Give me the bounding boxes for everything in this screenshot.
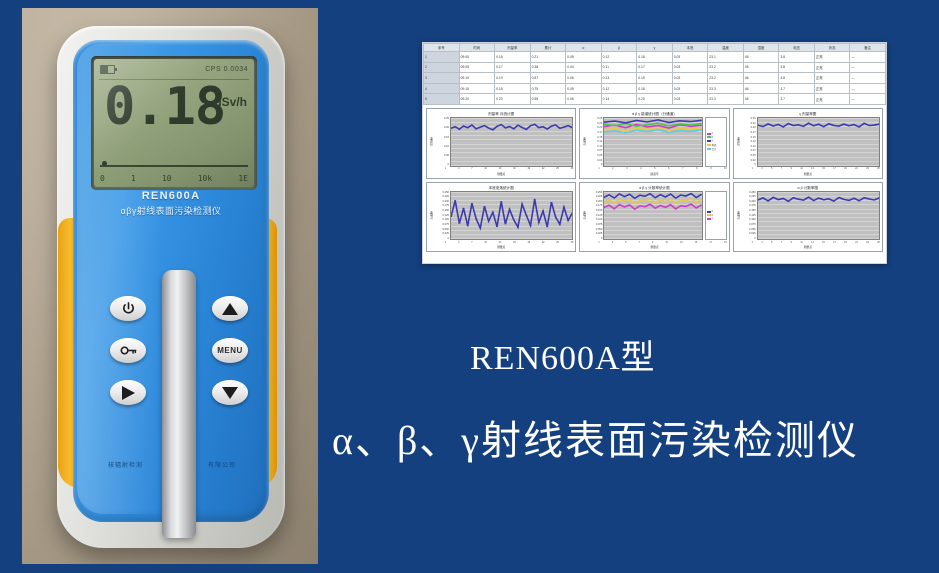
chart-y-tick: 0.075 bbox=[587, 223, 602, 226]
chart-x-tick: 15 bbox=[822, 242, 825, 244]
chart-data-point bbox=[675, 208, 677, 209]
chart-data-point bbox=[832, 125, 834, 126]
device-bottom-right-text: 有限公司 bbox=[208, 460, 236, 469]
chart-y-axis-label: 计数率 bbox=[582, 117, 587, 167]
chart-data-point bbox=[625, 132, 627, 133]
chart-svg bbox=[758, 192, 879, 240]
device-model-block: REN600A αβγ射线表面污染检测仪 bbox=[73, 190, 269, 217]
legend-label: γ bbox=[712, 217, 713, 220]
lcd-reading-value: 0.18 bbox=[104, 81, 225, 133]
table-cell: 5 bbox=[424, 94, 460, 105]
chart-x-tick: 23 bbox=[866, 242, 869, 244]
chart-x-tick: 9 bbox=[710, 168, 711, 170]
chart-x-axis-label: 通道号 bbox=[582, 172, 726, 177]
chart-x-tick: 3 bbox=[626, 168, 627, 170]
legend-swatch bbox=[707, 148, 711, 150]
table-column-header: α bbox=[566, 44, 602, 52]
chart-y-axis-label: 剂量率 bbox=[736, 117, 741, 167]
chart-svg bbox=[604, 118, 701, 166]
chart-data-point bbox=[508, 126, 510, 127]
chart-y-tick: 0.050 bbox=[434, 228, 449, 231]
chart-data-point bbox=[614, 130, 616, 131]
device-model-description: αβγ射线表面污染检测仪 bbox=[73, 204, 269, 217]
chart-data-point bbox=[500, 124, 502, 125]
chart-data-point bbox=[614, 208, 616, 209]
chart-data-point bbox=[454, 126, 456, 127]
chart-data-point bbox=[488, 220, 490, 221]
table-cell: 46 bbox=[743, 73, 779, 84]
chart-data-point bbox=[658, 127, 660, 128]
chart-x-tick: 7 bbox=[682, 168, 683, 170]
chart-data-point bbox=[619, 193, 621, 194]
triangle-down-icon bbox=[222, 387, 238, 399]
chart-data-point bbox=[832, 200, 834, 201]
table-column-header: 本底 bbox=[672, 44, 708, 52]
chart-data-point bbox=[843, 198, 845, 199]
chart-y-tick: 0.25 bbox=[587, 117, 602, 120]
data-table: 序号时间剂量率累计αβγ本底温度湿度电压状态备注 109:000.180.210… bbox=[423, 43, 886, 105]
chart-x-tick: 1 bbox=[598, 242, 599, 244]
play-button[interactable] bbox=[110, 380, 146, 405]
page-title-product: α、β、γ射线表面污染检测仪 bbox=[332, 408, 932, 466]
chart-data-point bbox=[863, 123, 865, 124]
table-row: 209:050.170.380.040.110.170.0323.2453.8正… bbox=[424, 62, 886, 73]
chart-x-tick: 25 bbox=[877, 168, 880, 170]
chart-body: 计数率0.2500.2250.2000.1750.1500.1250.1000.… bbox=[429, 191, 573, 241]
chart-data-point bbox=[767, 123, 769, 124]
chart-plot-area bbox=[603, 191, 702, 241]
table-cell: 0.14 bbox=[601, 94, 637, 105]
chart-data-point bbox=[619, 198, 621, 199]
lcd-scale-ticks: 011010k1E bbox=[100, 172, 248, 184]
chart-y-ticks: 0.2500.2250.2000.1750.1500.1250.1000.075… bbox=[587, 191, 603, 241]
chart-data-point bbox=[521, 127, 523, 128]
chart-x-tick: 19 bbox=[528, 242, 531, 244]
table-column-header: 剂量率 bbox=[495, 44, 531, 52]
chart-x-tick: 25 bbox=[877, 242, 880, 244]
menu-button-label: MENU bbox=[217, 346, 243, 355]
chart-data-point bbox=[625, 123, 627, 124]
chart-data-point bbox=[538, 127, 540, 128]
chart-y-tick: 0.15 bbox=[587, 136, 602, 139]
chart-y-tick: 0.07 bbox=[741, 149, 756, 152]
table-cell: 46 bbox=[743, 83, 779, 94]
table-column-header: 累计 bbox=[530, 44, 566, 52]
lcd-scale-tick: 0 bbox=[100, 174, 105, 183]
chart-data-point bbox=[609, 194, 611, 195]
chart-data-point bbox=[665, 201, 667, 202]
table-column-header: γ bbox=[637, 44, 673, 52]
chart-y-tick: 0.025 bbox=[434, 232, 449, 235]
table-cell: — bbox=[850, 62, 886, 73]
chart-x-axis-label: 测量点 bbox=[736, 172, 880, 177]
chart-y-tick: 0.05 bbox=[434, 154, 449, 157]
chart-data-point bbox=[679, 130, 681, 131]
chart-data-point bbox=[467, 127, 469, 128]
chart-x-axis-label: 测量点 bbox=[429, 172, 573, 177]
chart-data-point bbox=[639, 205, 641, 206]
chart-x-tick: 17 bbox=[833, 242, 836, 244]
chart-data-point bbox=[691, 193, 693, 194]
chart-y-tick: 0.125 bbox=[587, 214, 602, 217]
chart-x-tick: 25 bbox=[556, 242, 559, 244]
chart-data-point bbox=[691, 198, 693, 199]
chart-body: 计数率0.2500.2250.2000.1750.1500.1250.1000.… bbox=[736, 191, 880, 241]
chart-data-point bbox=[647, 124, 649, 125]
chart-y-tick: 0.05 bbox=[587, 154, 602, 157]
chart-data-point bbox=[525, 129, 527, 130]
chart-data-point bbox=[668, 128, 670, 129]
table-cell: 23.3 bbox=[708, 83, 744, 94]
chart-data-point bbox=[767, 200, 769, 201]
chart-y-tick: 0.250 bbox=[741, 191, 756, 194]
chart-data-point bbox=[634, 197, 636, 198]
table-cell: 正常 bbox=[814, 62, 850, 73]
legend-swatch bbox=[707, 218, 711, 220]
chart-y-tick: 0.200 bbox=[434, 200, 449, 203]
table-cell: 0.12 bbox=[601, 83, 637, 94]
table-cell: 0.18 bbox=[637, 52, 673, 63]
chart-data-point bbox=[629, 193, 631, 194]
legend-item: 合计 bbox=[707, 147, 725, 151]
chart-x-tick: 23 bbox=[866, 168, 869, 170]
chart-data-point bbox=[629, 204, 631, 205]
legend-item: γ bbox=[707, 217, 725, 220]
chart-data-point bbox=[782, 198, 784, 199]
chart-data-point bbox=[614, 121, 616, 122]
chart-x-tick: 8 bbox=[696, 168, 697, 170]
chart-data-point bbox=[555, 125, 557, 126]
chart-data-point bbox=[521, 203, 523, 204]
chart-data-point bbox=[670, 204, 672, 205]
chart-data-point bbox=[563, 127, 565, 128]
chart-data-point bbox=[696, 202, 698, 203]
chart-y-tick: 0.17 bbox=[741, 131, 756, 134]
chart-x-tick: 19 bbox=[844, 242, 847, 244]
legend-label: 本底 bbox=[712, 143, 717, 147]
lcd-scale-tick: 1 bbox=[131, 174, 136, 183]
chart-data-point bbox=[690, 129, 692, 130]
chart-y-axis-label: 计数率 bbox=[582, 191, 587, 241]
chart-x-tick: 21 bbox=[855, 242, 858, 244]
table-cell: 0.06 bbox=[566, 94, 602, 105]
lcd-divider bbox=[99, 79, 249, 80]
chart-data-point bbox=[777, 124, 779, 125]
chart-data-point bbox=[644, 195, 646, 196]
chart-data-point bbox=[525, 214, 527, 215]
chart-y-tick: 0.150 bbox=[741, 209, 756, 212]
table-cell: 46 bbox=[743, 94, 779, 105]
chart-x-tick: 7 bbox=[781, 168, 782, 170]
chart-data-point bbox=[619, 204, 621, 205]
table-row: 309:100.190.570.060.130.190.0323.2463.8正… bbox=[424, 73, 886, 84]
power-button[interactable] bbox=[110, 296, 146, 321]
table-cell: 09:00 bbox=[459, 52, 495, 63]
chart-data-point bbox=[496, 226, 498, 227]
chart-body: 计数率0.250.220.200.170.150.120.100.070.050… bbox=[582, 117, 726, 167]
chart-data-point bbox=[609, 204, 611, 205]
chart-data-point bbox=[496, 126, 498, 127]
chart-x-tick: 10 bbox=[724, 168, 727, 170]
table-cell: 3.7 bbox=[779, 94, 815, 105]
chart-y-tick: 0.22 bbox=[741, 122, 756, 125]
chart-y-axis-label: 计数率 bbox=[429, 191, 434, 241]
chart-x-tick: 13 bbox=[811, 242, 814, 244]
chart-x-tick: 9 bbox=[791, 242, 792, 244]
chart-data-point bbox=[873, 125, 875, 126]
legend-swatch bbox=[707, 211, 711, 213]
lcd-bargraph-line bbox=[100, 165, 248, 167]
chart-data-point bbox=[807, 196, 809, 197]
down-button[interactable] bbox=[212, 380, 248, 405]
chart-data-point bbox=[513, 219, 515, 220]
chart-data-point bbox=[817, 197, 819, 198]
chart-x-tick: 28 bbox=[571, 242, 574, 244]
chart-y-tick: 0.20 bbox=[587, 126, 602, 129]
chart-x-tick: 15 bbox=[822, 168, 825, 170]
chart-x-tick: 19 bbox=[724, 242, 727, 244]
chart-data-point bbox=[488, 128, 490, 129]
chart-data-point bbox=[762, 126, 764, 127]
table-cell: 0.03 bbox=[672, 94, 708, 105]
chart-x-tick: 5 bbox=[771, 242, 772, 244]
chart-data-point bbox=[787, 200, 789, 201]
chart-data-point bbox=[853, 197, 855, 198]
chart-x-tick: 19 bbox=[844, 168, 847, 170]
lcd-scale-tick: 10k bbox=[198, 174, 212, 183]
table-body: 109:000.180.210.050.120.180.0323.1453.8正… bbox=[424, 52, 886, 105]
table-cell: 正常 bbox=[814, 73, 850, 84]
chart-y-tick: 0.250 bbox=[587, 191, 602, 194]
chart-x-tick: 9 bbox=[652, 242, 653, 244]
chart-y-tick: 0.075 bbox=[434, 223, 449, 226]
legend-swatch bbox=[707, 214, 711, 216]
chart-y-tick: 0.225 bbox=[434, 195, 449, 198]
chart-data-point bbox=[655, 207, 657, 208]
chart-data-point bbox=[471, 202, 473, 203]
chart-x-tick: 4 bbox=[640, 168, 641, 170]
legend-swatch bbox=[707, 133, 711, 135]
chart-data-point bbox=[660, 194, 662, 195]
chart-data-point bbox=[644, 206, 646, 207]
chart-data-point bbox=[696, 207, 698, 208]
chart-data-point bbox=[538, 221, 540, 222]
lcd-bargraph-marker bbox=[102, 161, 107, 166]
chart-y-tick: 0.050 bbox=[587, 228, 602, 231]
chart-x-tick: 7 bbox=[639, 242, 640, 244]
chart-x-tick: 15 bbox=[695, 242, 698, 244]
chart-x-tick: 19 bbox=[528, 168, 531, 170]
chart-legend: αβγ bbox=[705, 191, 727, 241]
chart-data-point bbox=[479, 227, 481, 228]
table-row: 109:000.180.210.050.120.180.0323.1453.8正… bbox=[424, 52, 886, 63]
legend-label: 合计 bbox=[712, 147, 717, 151]
table-cell: 3.8 bbox=[779, 52, 815, 63]
table-cell: 3.8 bbox=[779, 62, 815, 73]
chart-data-point bbox=[691, 203, 693, 204]
chart-data-point bbox=[680, 199, 682, 200]
chart-data-point bbox=[636, 130, 638, 131]
chart-data-point bbox=[665, 206, 667, 207]
chart-data-point bbox=[650, 203, 652, 204]
chart-data-point bbox=[658, 123, 660, 124]
legend-swatch bbox=[707, 140, 711, 142]
chart-x-tick: 13 bbox=[680, 242, 683, 244]
chart-data-point bbox=[660, 205, 662, 206]
table-cell: 正常 bbox=[814, 94, 850, 105]
chart-data-point bbox=[837, 126, 839, 127]
chart-data-point bbox=[668, 130, 670, 131]
chart-data-point bbox=[634, 203, 636, 204]
chart-x-tick: 22 bbox=[542, 168, 545, 170]
chart-data-point bbox=[685, 195, 687, 196]
chart-y-tick: 0.250 bbox=[434, 191, 449, 194]
chart-data-point bbox=[797, 124, 799, 125]
chart-x-tick: 25 bbox=[556, 168, 559, 170]
chart-data-point bbox=[782, 127, 784, 128]
chart-data-point bbox=[827, 198, 829, 199]
chart-data-point bbox=[492, 129, 494, 130]
chart-y-tick: 0.12 bbox=[587, 140, 602, 143]
chart-data-point bbox=[848, 199, 850, 200]
chart-data-point bbox=[546, 129, 548, 130]
chart-x-tick: 1 bbox=[445, 168, 446, 170]
table-cell: 45 bbox=[743, 52, 779, 63]
table-column-header: 温度 bbox=[708, 44, 744, 52]
chart-data-point bbox=[451, 216, 452, 217]
mode-button[interactable] bbox=[110, 338, 146, 363]
chart-y-tick: 0.175 bbox=[434, 204, 449, 207]
lcd-status-text: CPS 0.0034 bbox=[205, 66, 248, 73]
table-cell: 0.05 bbox=[566, 83, 602, 94]
play-icon bbox=[122, 386, 135, 400]
chart-data-point bbox=[639, 194, 641, 195]
chart-y-ticks: 0.250.220.200.170.150.120.100.070.050.02… bbox=[587, 117, 603, 167]
table-row: 409:150.180.750.050.120.180.0323.3463.7正… bbox=[424, 83, 886, 94]
chart-data-point bbox=[690, 131, 692, 132]
legend-swatch bbox=[707, 144, 711, 146]
table-column-header: 备注 bbox=[850, 44, 886, 52]
chart-plot-area bbox=[757, 191, 880, 241]
chart-data-point bbox=[690, 125, 692, 126]
chart-body: 剂量率0.250.200.150.100.050 bbox=[429, 117, 573, 167]
chart-data-point bbox=[822, 199, 824, 200]
chart-y-tick: 0.20 bbox=[741, 126, 756, 129]
table-cell: 0.20 bbox=[637, 94, 673, 105]
table-cell: — bbox=[850, 94, 886, 105]
chart-data-point bbox=[647, 127, 649, 128]
lcd-reading-unit: uSv/h bbox=[214, 95, 247, 109]
up-button[interactable] bbox=[212, 296, 248, 321]
chart-y-ticks: 0.250.200.150.100.050 bbox=[434, 117, 450, 167]
chart-data-point bbox=[658, 129, 660, 130]
chart-svg bbox=[604, 192, 701, 240]
chart-data-point bbox=[614, 202, 616, 203]
menu-button[interactable]: MENU bbox=[212, 338, 248, 363]
chart-x-tick: 3 bbox=[761, 168, 762, 170]
chart-data-point bbox=[812, 125, 814, 126]
chart-data-point bbox=[492, 211, 494, 212]
chart-legend: αβγ本底合计 bbox=[705, 117, 727, 167]
table-cell: 3.8 bbox=[779, 73, 815, 84]
table-column-header: 时间 bbox=[459, 44, 495, 52]
chart-y-tick: 0.02 bbox=[741, 159, 756, 162]
chart-data-point bbox=[614, 197, 616, 198]
key-icon bbox=[120, 344, 137, 357]
chart-data-point bbox=[517, 226, 519, 227]
chart-data-point bbox=[787, 123, 789, 124]
chart-data-point bbox=[559, 128, 561, 129]
chart-data-point bbox=[868, 198, 870, 199]
chart-data-point bbox=[483, 125, 485, 126]
chart-y-tick: 0.225 bbox=[741, 195, 756, 198]
chart-data-point bbox=[609, 199, 611, 200]
chart-data-point bbox=[475, 218, 477, 219]
chart-data-point bbox=[479, 127, 481, 128]
chart-x-tick: 1 bbox=[445, 242, 446, 244]
chart-data-point bbox=[625, 127, 627, 128]
table-cell: 1 bbox=[424, 52, 460, 63]
chart-data-point bbox=[837, 197, 839, 198]
chart-y-ticks: 0.2500.2250.2000.1750.1500.1250.1000.075… bbox=[741, 191, 757, 241]
chart-x-axis-label: 测量点 bbox=[429, 245, 573, 250]
chart-x-tick: 7 bbox=[471, 168, 472, 170]
table-cell: 4 bbox=[424, 83, 460, 94]
table-header-row: 序号时间剂量率累计αβγ本底温度湿度电压状态备注 bbox=[424, 44, 886, 52]
chart-x-tick: 13 bbox=[811, 168, 814, 170]
table-column-header: β bbox=[601, 44, 637, 52]
chart-data-point bbox=[658, 125, 660, 126]
chart-series-line bbox=[758, 123, 879, 127]
table-cell: 0.18 bbox=[637, 83, 673, 94]
chart-card: 本底涨落统计图计数率0.2500.2250.2000.1750.1500.125… bbox=[426, 182, 576, 253]
chart-x-tick: 9 bbox=[791, 168, 792, 170]
chart-x-tick: 2 bbox=[612, 168, 613, 170]
chart-data-point bbox=[679, 123, 681, 124]
chart-y-tick: 0.175 bbox=[587, 204, 602, 207]
chart-x-tick: 3 bbox=[612, 242, 613, 244]
chart-data-point bbox=[772, 196, 774, 197]
chart-x-tick: 11 bbox=[800, 242, 802, 244]
chart-data-point bbox=[675, 197, 677, 198]
chart-body: 计数率0.2500.2250.2000.1750.1500.1250.1000.… bbox=[582, 191, 726, 241]
chart-data-point bbox=[679, 128, 681, 129]
lcd-scale-tick: 1E bbox=[238, 174, 248, 183]
chart-data-point bbox=[802, 199, 804, 200]
page-title-model: REN600A型 bbox=[470, 330, 930, 379]
lcd-scale-tick: 10 bbox=[162, 174, 172, 183]
lcd-status-bar: CPS 0.0034 bbox=[100, 63, 248, 76]
triangle-up-icon bbox=[222, 303, 238, 315]
chart-y-tick: 0.125 bbox=[434, 214, 449, 217]
table-cell: 0.03 bbox=[672, 83, 708, 94]
table-cell: 09:10 bbox=[459, 73, 495, 84]
chart-data-point bbox=[647, 129, 649, 130]
table-cell: 0.06 bbox=[566, 73, 602, 84]
legend-item: 本底 bbox=[707, 143, 725, 147]
table-cell: — bbox=[850, 52, 886, 63]
table-cell: 0.21 bbox=[530, 52, 566, 63]
chart-data-point bbox=[500, 201, 502, 202]
chart-y-tick: 0.150 bbox=[434, 209, 449, 212]
chart-data-point bbox=[827, 123, 829, 124]
chart-y-tick: 0.17 bbox=[587, 131, 602, 134]
chart-y-tick: 0.12 bbox=[741, 140, 756, 143]
table-cell: 2 bbox=[424, 62, 460, 73]
chart-x-tick: 10 bbox=[484, 168, 487, 170]
chart-svg bbox=[451, 118, 572, 166]
chart-data-point bbox=[690, 121, 692, 122]
